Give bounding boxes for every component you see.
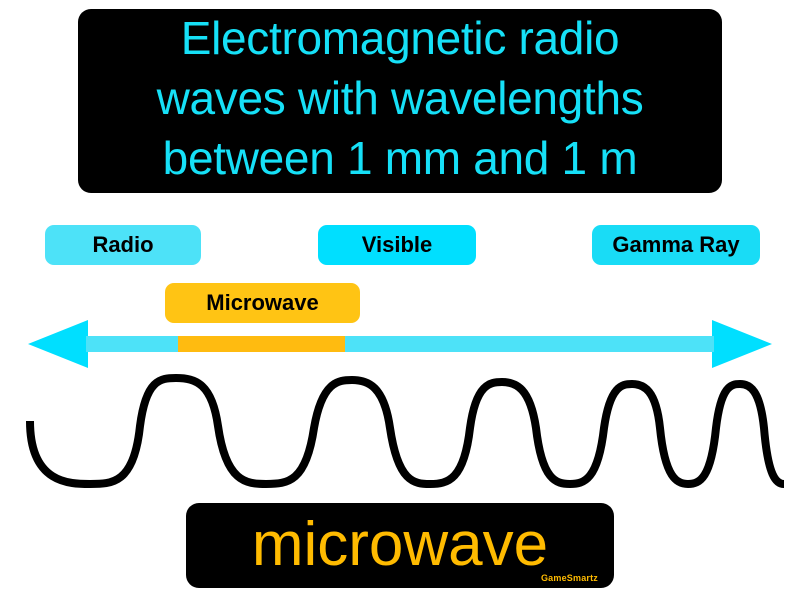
increasing-frequency-waveform	[0, 366, 800, 491]
spectrum-band-gamma-ray: Gamma Ray	[592, 225, 760, 265]
definition-text: Electromagnetic radio waves with wavelen…	[157, 8, 644, 188]
spectrum-arrow-left-head	[28, 320, 88, 368]
term-text: microwave	[186, 513, 614, 575]
spectrum-band-gamma-ray-label: Gamma Ray	[612, 232, 739, 258]
spectrum-band-visible-label: Visible	[362, 232, 433, 258]
spectrum-band-visible: Visible	[318, 225, 476, 265]
spectrum-band-radio: Radio	[45, 225, 201, 265]
term-card: microwave GameSmartz	[186, 503, 614, 588]
spectrum-arrow	[0, 318, 800, 370]
waveform-path	[30, 378, 784, 484]
spectrum-band-microwave: Microwave	[165, 283, 360, 323]
spectrum-arrow-right-head	[712, 320, 772, 368]
definition-card: Electromagnetic radio waves with wavelen…	[78, 9, 722, 193]
spectrum-band-microwave-label: Microwave	[206, 290, 319, 316]
spectrum-arrow-microwave-segment	[178, 336, 345, 352]
spectrum-band-radio-label: Radio	[92, 232, 153, 258]
watermark: GameSmartz	[541, 573, 598, 583]
